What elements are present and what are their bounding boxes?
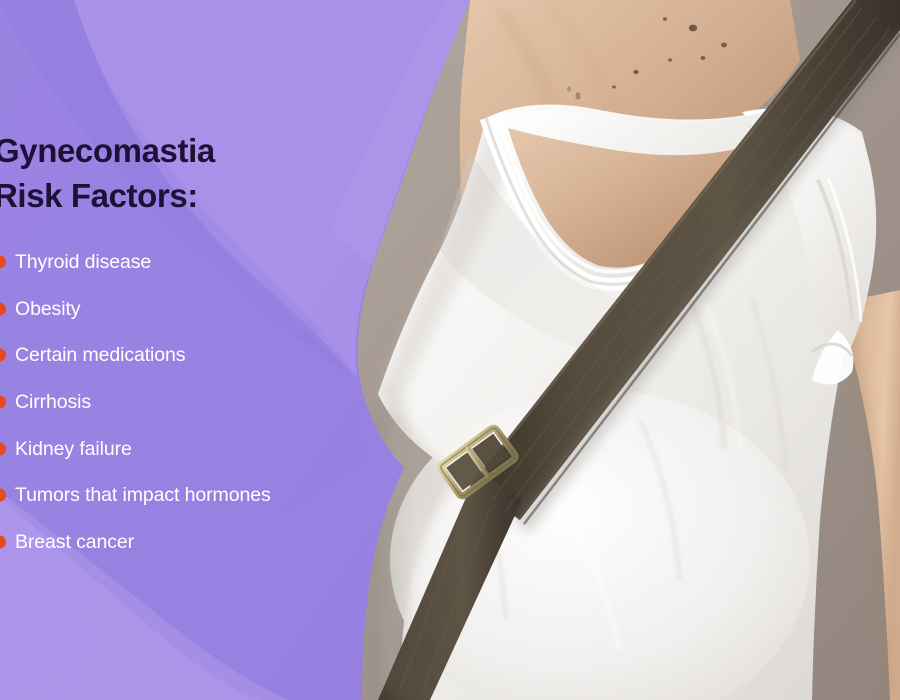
list-item: Obesity bbox=[0, 286, 400, 333]
title-line-2: Risk Factors: bbox=[0, 173, 394, 218]
list-item-label: Thyroid disease bbox=[15, 251, 151, 273]
bullet-icon bbox=[0, 489, 6, 502]
list-item: Tumors that impact hormones bbox=[0, 472, 400, 519]
list-item-label: Kidney failure bbox=[15, 438, 132, 460]
list-item-label: Tumors that impact hormones bbox=[15, 484, 271, 506]
list-item: Thyroid disease bbox=[0, 239, 400, 286]
bullet-icon bbox=[0, 302, 6, 315]
page-title: Gynecomastia Risk Factors: bbox=[0, 128, 394, 218]
list-item: Breast cancer bbox=[0, 519, 400, 566]
bullet-icon bbox=[0, 535, 6, 548]
list-item-label: Cirrhosis bbox=[15, 391, 91, 413]
list-item-label: Breast cancer bbox=[15, 531, 134, 553]
text-column: Gynecomastia Risk Factors: Thyroid disea… bbox=[0, 0, 400, 700]
bullet-icon bbox=[0, 349, 6, 362]
title-line-1: Gynecomastia bbox=[0, 132, 215, 169]
list-item: Certain medications bbox=[0, 332, 400, 379]
bullet-icon bbox=[0, 396, 6, 409]
list-item: Kidney failure bbox=[0, 425, 400, 472]
risk-factors-list: Thyroid disease Obesity Certain medicati… bbox=[0, 239, 400, 565]
list-item-label: Certain medications bbox=[15, 344, 185, 366]
list-item: Cirrhosis bbox=[0, 379, 400, 426]
slide-canvas: Gynecomastia Risk Factors: Thyroid disea… bbox=[0, 0, 900, 700]
bullet-icon bbox=[0, 442, 6, 455]
list-item-label: Obesity bbox=[15, 298, 80, 320]
bullet-icon bbox=[0, 256, 6, 269]
